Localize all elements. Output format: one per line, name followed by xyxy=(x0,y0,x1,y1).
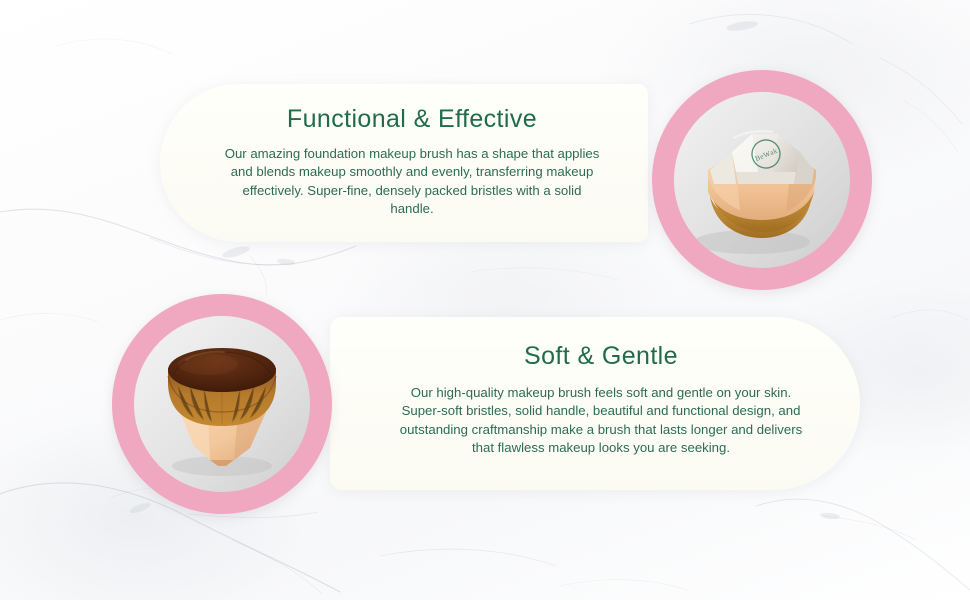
brush-bristle-view-illustration xyxy=(134,316,310,492)
brush-bristle-view-alt: Makeup brush turned upside down showing … xyxy=(112,294,113,295)
infographic-canvas: Functional & Effective Our amazing found… xyxy=(0,0,970,600)
feature-card-functional-effective: Functional & Effective Our amazing found… xyxy=(160,84,648,242)
card-heading-soft-gentle: Soft & Gentle xyxy=(524,343,678,371)
product-image-brush-top-view: BeWak Faceted hexagonal makeup brush see… xyxy=(652,70,872,290)
card-heading-functional-effective: Functional & Effective xyxy=(287,106,537,134)
brush-top-view-alt: Faceted hexagonal makeup brush seen from… xyxy=(652,70,653,71)
feature-card-soft-gentle: Soft & Gentle Our high-quality makeup br… xyxy=(330,317,860,490)
card-body-soft-gentle: Our high-quality makeup brush feels soft… xyxy=(397,384,805,458)
card-body-functional-effective: Our amazing foundation makeup brush has … xyxy=(222,145,602,219)
product-photo-frame-top: BeWak xyxy=(674,92,850,268)
brush-top-view-illustration: BeWak xyxy=(674,92,850,268)
product-image-brush-bristle-view: Makeup brush turned upside down showing … xyxy=(112,294,332,514)
product-photo-frame-bottom xyxy=(134,316,310,492)
